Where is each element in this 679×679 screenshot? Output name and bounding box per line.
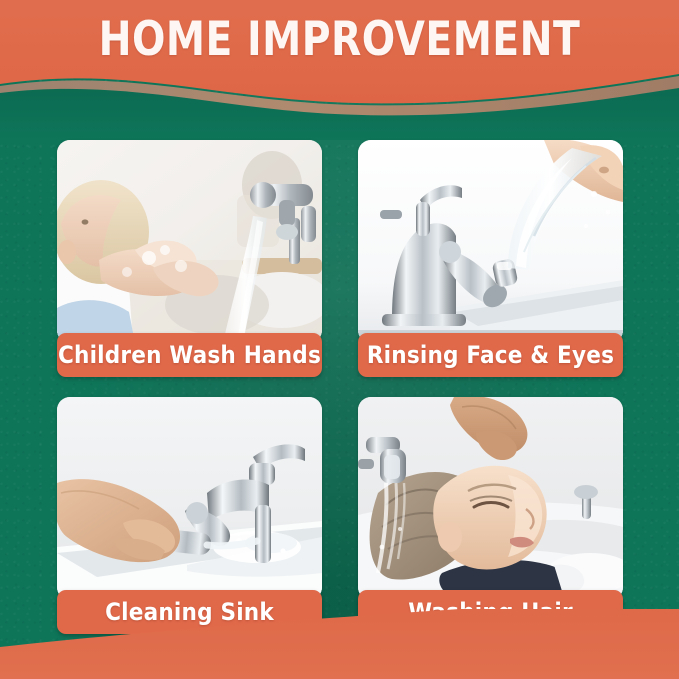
footer-band bbox=[0, 609, 679, 679]
card-label-children-wash-hands: Children Wash Hands bbox=[57, 333, 322, 377]
product-infographic-poster: HOME IMPROVEMENT bbox=[0, 0, 679, 679]
feature-card-grid: Children Wash Hands bbox=[57, 140, 623, 634]
feature-card-cleaning-sink[interactable]: Cleaning Sink bbox=[57, 397, 322, 634]
footer-arc bbox=[0, 609, 679, 679]
photo-washing-hair bbox=[358, 397, 623, 600]
card-label-text: Rinsing Face & Eyes bbox=[367, 341, 614, 369]
photo-rinsing-face-and-eyes bbox=[358, 140, 623, 343]
feature-card-children-wash-hands[interactable]: Children Wash Hands bbox=[57, 140, 322, 377]
feature-card-washing-hair[interactable]: Washing Hair bbox=[358, 397, 623, 634]
feature-card-rinsing-face-and-eyes[interactable]: Rinsing Face & Eyes bbox=[358, 140, 623, 377]
page-title: HOME IMPROVEMENT bbox=[24, 14, 655, 66]
card-label-text: Children Wash Hands bbox=[58, 341, 321, 369]
photo-cleaning-sink bbox=[57, 397, 322, 600]
card-label-rinsing-face-and-eyes: Rinsing Face & Eyes bbox=[358, 333, 623, 377]
photo-children-wash-hands bbox=[57, 140, 322, 343]
